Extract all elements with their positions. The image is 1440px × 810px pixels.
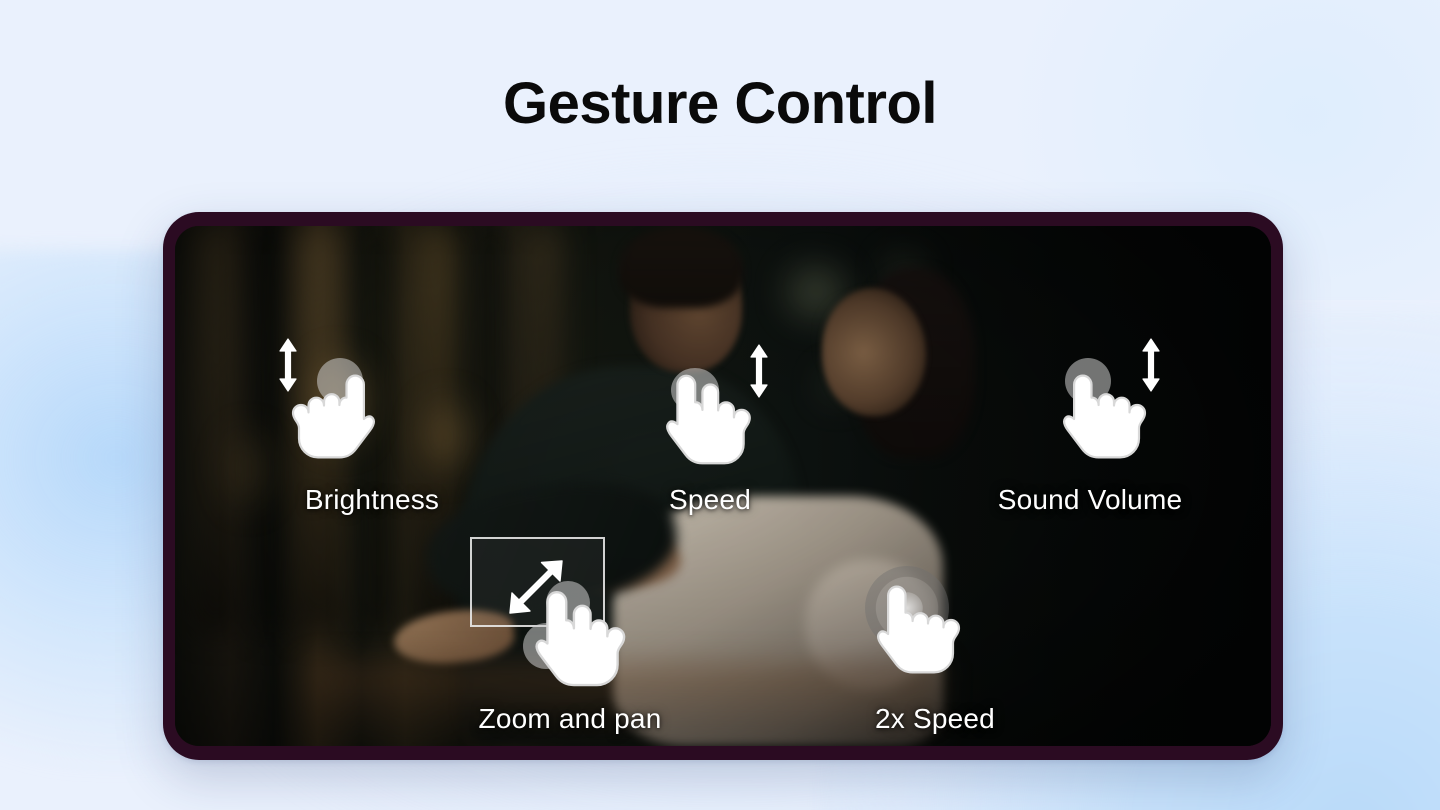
gesture-speed-label: Speed xyxy=(610,484,810,516)
two-finger-swipe-hand-icon xyxy=(661,368,761,468)
gesture-2x-speed-label: 2x Speed xyxy=(775,703,1095,735)
one-finger-swipe-hand-icon xyxy=(283,364,379,462)
page-title: Gesture Control xyxy=(0,74,1440,135)
two-finger-pinch-hand-icon xyxy=(531,584,635,690)
gesture-sound-volume-label: Sound Volume xyxy=(900,484,1271,516)
gesture-brightness-label: Brightness xyxy=(257,484,487,516)
gesture-zoom-and-pan-label: Zoom and pan xyxy=(360,703,780,735)
one-finger-long-press-hand-icon xyxy=(873,578,969,678)
one-finger-swipe-hand-icon xyxy=(1059,364,1155,462)
device-screen[interactable]: Brightness Speed xyxy=(175,226,1271,746)
device-frame: Brightness Speed xyxy=(163,212,1283,760)
